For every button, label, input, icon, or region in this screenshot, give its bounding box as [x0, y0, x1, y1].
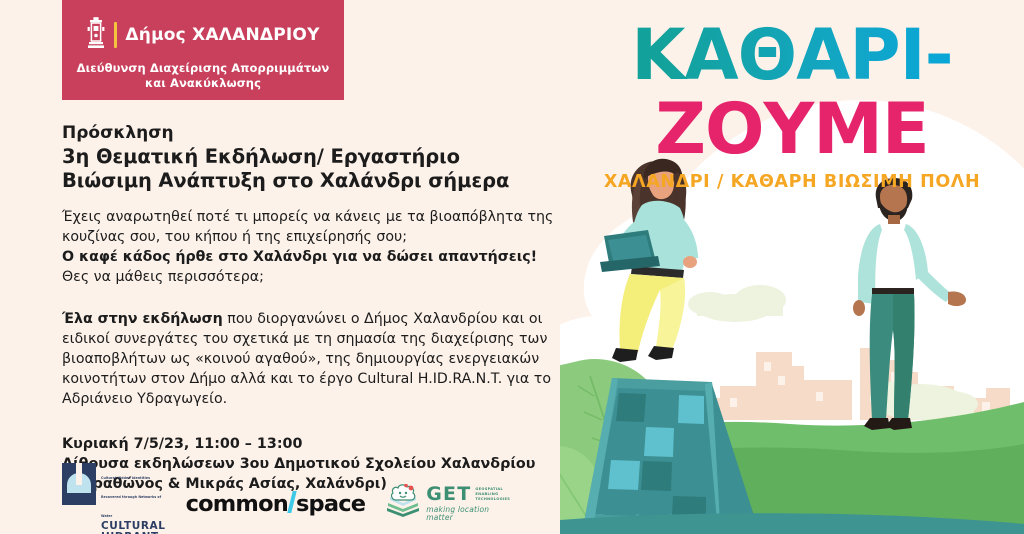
logo-commonspace[interactable]: common space [186, 489, 366, 517]
hero-line-1: ΚΑΘΑΡΙ- [560, 18, 1024, 92]
get-sub-3: TECHNOLOGIES [475, 497, 510, 502]
hero-line-2: ΖΟΥΜΕ [560, 92, 1024, 166]
cultural-hidrant-mark-icon [62, 463, 96, 509]
get-tagline: making location matter [426, 506, 510, 521]
illustration-panel: ΚΑΘΑΡΙ- ΖΟΥΜΕ ΧΑΛΑΝΔΡΙ / ΚΑΘΑΡΗ ΒΙΩΣΙΜΗ … [560, 0, 1024, 534]
badge-divider [114, 22, 117, 48]
commonspace-word-1: common [186, 491, 288, 517]
intro-bold-line: Ο καφέ κάδος ήρθε στο Χαλάνδρι για να δώ… [62, 247, 557, 267]
municipality-badge: Δήμος ΧΑΛΑΝΔΡΙΟΥ Διεύθυνση Διαχείρισης Α… [62, 0, 344, 100]
municipality-department-line2: και Ανακύκλωσης [145, 76, 261, 91]
get-word: GET [426, 485, 471, 504]
municipality-title-row: Δήμος ΧΑΛΑΝΔΡΙΟΥ [86, 16, 319, 54]
description-lead: Έλα στην εκδήλωση [62, 311, 223, 327]
commonspace-word-2: space [296, 491, 365, 517]
hero-subtitle: ΧΑΛΑΝΔΡΙ / ΚΑΘΑΡΗ ΒΙΩΣΙΜΗ ΠΟΛΗ [560, 172, 1024, 192]
event-datetime: Κυριακή 7/5/23, 11:00 – 13:00 [62, 434, 557, 454]
municipality-name: Δήμος ΧΑΛΑΝΔΡΙΟΥ [125, 25, 319, 45]
intro-line-4: Θες να μάθεις περισσότερα; [62, 267, 557, 287]
logo-cultural-hidrant[interactable]: Cultural Hidden Identities Recovered thr… [62, 463, 166, 534]
intro-line-2: κουζίνας σου, του κήπου ή της επιχείρησή… [62, 227, 557, 247]
municipality-department-line1: Διεύθυνση Διαχείρισης Απορριμμάτων [77, 61, 330, 76]
content-panel: Δήμος ΧΑΛΑΝΔΡΙΟΥ Διεύθυνση Διαχείρισης Α… [0, 0, 570, 534]
invitation-kicker: Πρόσκληση [62, 122, 557, 144]
hydrant-icon [86, 16, 106, 54]
invitation-body: Πρόσκληση 3η Θεματική Εκδήλωση/ Εργαστήρ… [62, 122, 557, 494]
invitation-title-line2: Βιώσιμη Ανάπτυξη στο Χαλάνδρι σήμερα [62, 169, 557, 193]
invitation-title-line1: 3η Θεματική Εκδήλωση/ Εργαστήριο [62, 145, 557, 169]
cultural-hidrant-tagline: Cultural Hidden Identities Recovered thr… [101, 476, 161, 518]
hero-headline-group: ΚΑΘΑΡΙ- ΖΟΥΜΕ ΧΑΛΑΝΔΡΙ / ΚΑΘΑΡΗ ΒΙΩΣΙΜΗ … [560, 18, 1024, 192]
poster-canvas: ΚΑΘΑΡΙ- ΖΟΥΜΕ ΧΑΛΑΝΔΡΙ / ΚΑΘΑΡΗ ΒΙΩΣΙΜΗ … [0, 0, 1024, 534]
partner-logos: Cultural Hidden Identities Recovered thr… [62, 478, 502, 528]
intro-line-1: Έχεις αναρωτηθεί ποτέ τι μπορείς να κάνε… [62, 207, 557, 227]
description-paragraph: Έλα στην εκδήλωση που διοργανώνει ο Δήμο… [62, 309, 557, 409]
get-book-icon [385, 484, 421, 522]
logo-get[interactable]: GET GEOSPATIAL ENABLING TECHNOLOGIES mak… [385, 484, 510, 522]
